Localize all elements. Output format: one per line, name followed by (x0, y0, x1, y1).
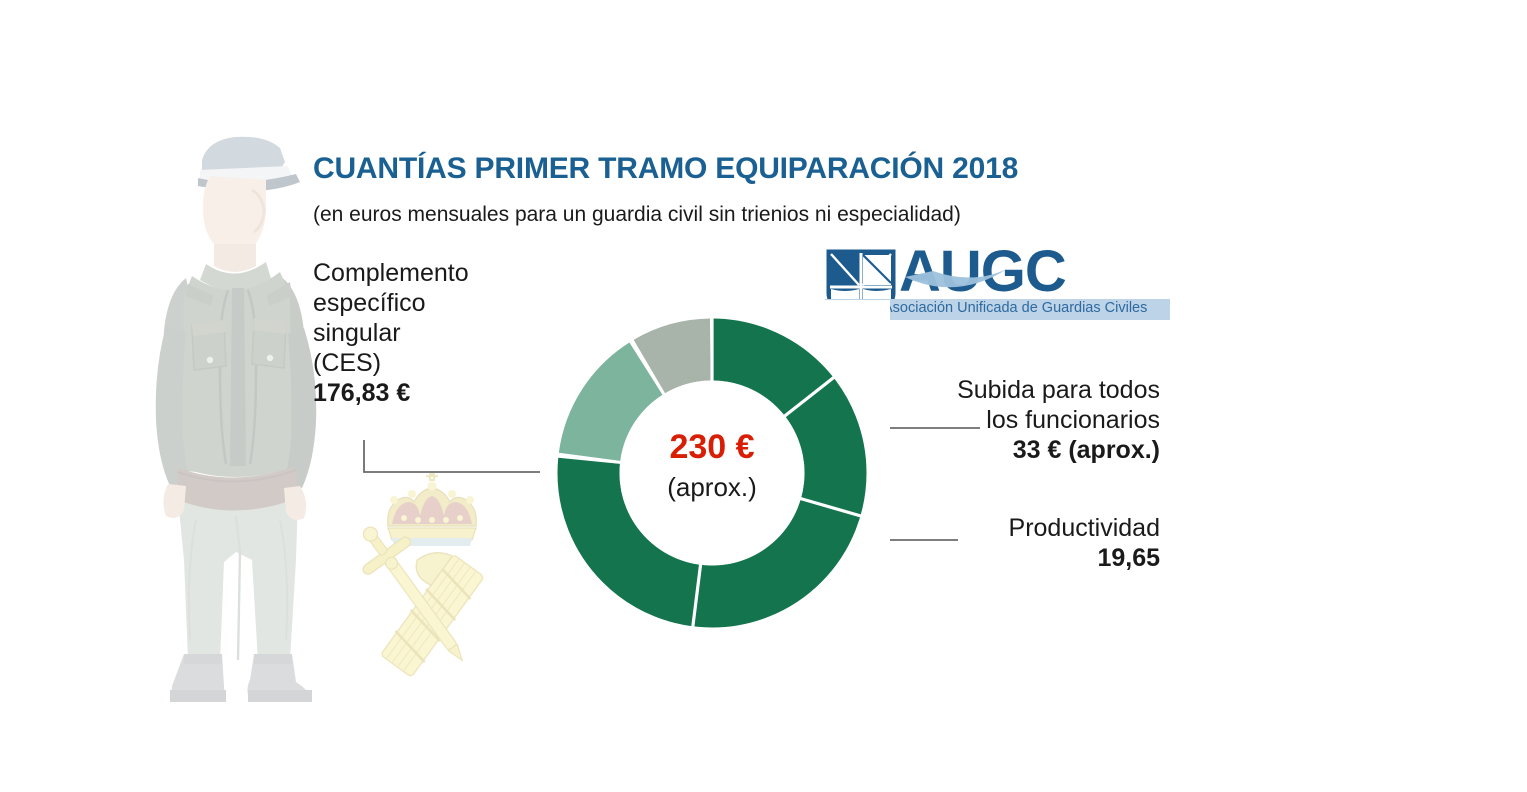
donut-center-value: 230 € (612, 428, 812, 467)
donut-center-note: (aprox.) (612, 472, 812, 503)
leader-line-ces (364, 440, 560, 472)
infographic-canvas: CUANTÍAS PRIMER TRAMO EQUIPARACIÓN 2018 … (0, 0, 1527, 792)
